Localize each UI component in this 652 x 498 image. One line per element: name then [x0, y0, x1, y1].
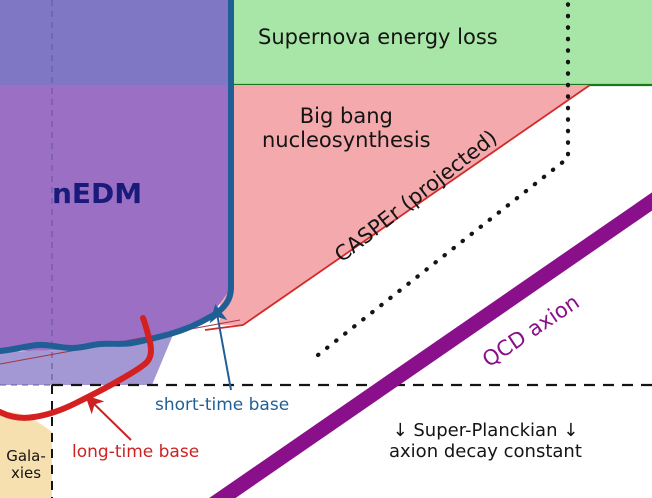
- short-time-base-label: short-time base: [155, 396, 289, 416]
- super-planckian-line1: ↓ Super-Planckian ↓: [389, 421, 582, 442]
- galaxies-region-label: Gala- xies: [2, 448, 50, 483]
- super-planckian-note: ↓ Super-Planckian ↓ axion decay constant: [389, 421, 582, 462]
- bbn-label-line2: nucleosynthesis: [262, 128, 431, 152]
- long-time-base-label: long-time base: [72, 443, 199, 463]
- bbn-label-line1: Big bang: [262, 104, 431, 128]
- region-nedm-fill: [0, 85, 230, 351]
- nedm-region-label: nEDM: [52, 178, 142, 210]
- supernova-region-label: Supernova energy loss: [258, 25, 498, 49]
- super-planckian-line2: axion decay constant: [389, 442, 582, 463]
- galaxies-label-line1: Gala-: [2, 448, 50, 465]
- long-time-base-leader-arrow: [88, 398, 131, 440]
- bbn-region-label: Big bang nucleosynthesis: [262, 104, 431, 152]
- axion-exclusion-plot: Supernova energy loss Big bang nucleosyn…: [0, 0, 652, 498]
- region-nedm-upper-fill: [0, 0, 230, 85]
- galaxies-label-line2: xies: [2, 465, 50, 482]
